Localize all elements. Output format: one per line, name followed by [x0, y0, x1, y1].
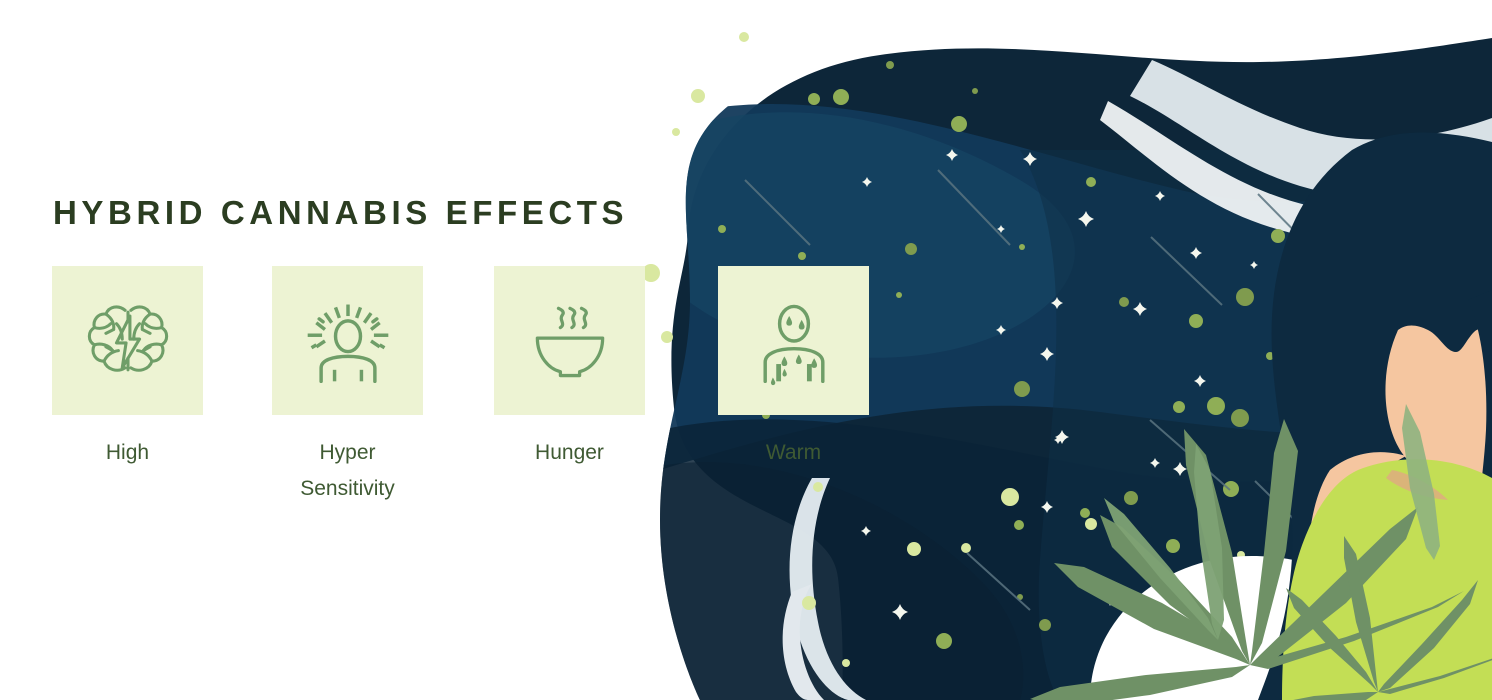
effect-label-warm: Warm [718, 435, 869, 471]
effect-icon-tile-hunger [494, 266, 645, 415]
page-title: HYBRID CANNABIS EFFECTS [53, 196, 628, 229]
person-sweating-icon [746, 293, 842, 389]
steaming-bowl-icon [522, 293, 618, 389]
effect-label-high: High [52, 435, 203, 471]
effect-label-hyper: Hyper Sensitivity [272, 435, 423, 507]
effect-item-hyper[interactable]: Hyper Sensitivity [272, 266, 423, 507]
infographic-canvas: HYBRID CANNABIS EFFECTS HighHyper Sensit… [0, 0, 1492, 700]
person-rays-icon [300, 293, 396, 389]
effect-label-hunger: Hunger [494, 435, 645, 471]
effect-icon-tile-hyper [272, 266, 423, 415]
effect-icon-tile-warm [718, 266, 869, 415]
effect-icon-tile-high [52, 266, 203, 415]
effect-item-high[interactable]: High [52, 266, 203, 471]
effect-item-warm[interactable]: Warm [718, 266, 869, 471]
effect-item-hunger[interactable]: Hunger [494, 266, 645, 471]
brain-lightning-icon [80, 293, 176, 389]
